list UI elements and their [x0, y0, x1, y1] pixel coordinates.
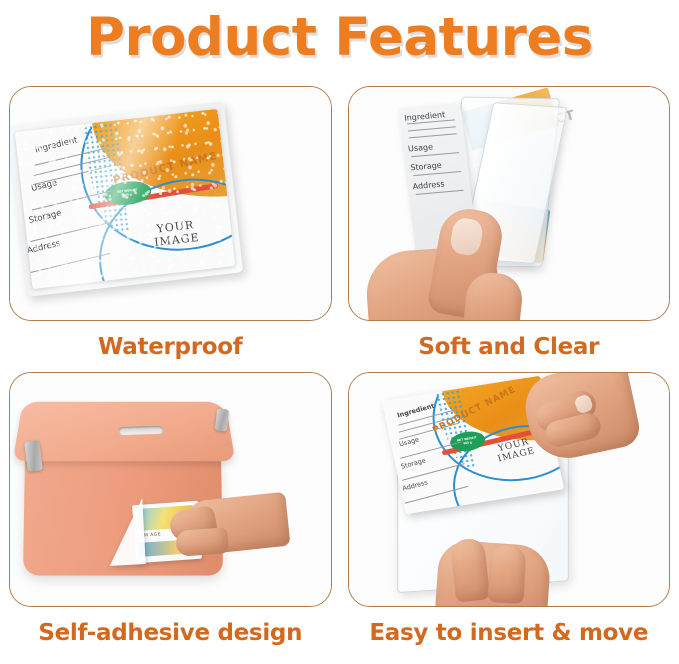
product-photo-easy-to-insert-and-move: PRODUCT NAME NET WEIGHT 650 g YOUR IMAGE… — [349, 373, 670, 606]
features-grid: PRODUCT NAME NET WEIGHT 650 g YOUR IMAGE… — [9, 86, 670, 658]
field-label-address: Address — [412, 178, 465, 191]
clear-sleeve: PRODUCT NAME NET WEIGHT 650 g YOUR IMAGE… — [10, 101, 243, 297]
hand-lower-finger-1 — [449, 537, 489, 602]
lid-handle-slot — [119, 426, 164, 435]
storage-box-lid — [13, 402, 236, 461]
peel-backing-corner — [106, 498, 145, 566]
page-title: Product Features — [0, 4, 679, 72]
feature-image-frame-soft-and-clear: PRODUCT Ingredient Usage Storage Address — [348, 86, 671, 321]
field-label-usage: Usage — [407, 140, 460, 153]
field-rule-5 — [413, 171, 461, 176]
feature-caption-soft-and-clear: Soft and Clear — [348, 321, 671, 372]
field-label-storage: Storage — [28, 209, 63, 226]
feature-caption-easy-to-insert-and-move: Easy to insert & move — [348, 607, 671, 658]
field-rule-5 — [30, 222, 111, 242]
field-rule-4 — [32, 190, 111, 210]
feature-item-soft-and-clear: PRODUCT Ingredient Usage Storage Address — [348, 86, 671, 372]
label-card-artwork: PRODUCT NAME NET WEIGHT 650 g YOUR IMAGE… — [15, 109, 236, 289]
feature-item-waterproof: PRODUCT NAME NET WEIGHT 650 g YOUR IMAGE… — [9, 86, 332, 372]
product-photo-waterproof: PRODUCT NAME NET WEIGHT 650 g YOUR IMAGE… — [10, 87, 331, 320]
field-rule-2 — [34, 156, 111, 175]
field-label-storage: Storage — [399, 457, 426, 471]
feature-image-frame-self-adhesive-design: IM AGE — [9, 372, 332, 607]
field-rule-3 — [408, 133, 456, 138]
feature-caption-self-adhesive-design: Self-adhesive design — [9, 607, 332, 658]
feature-item-easy-to-insert-and-move: PRODUCT NAME NET WEIGHT 650 g YOUR IMAGE… — [348, 372, 671, 658]
field-label-address: Address — [401, 478, 428, 492]
product-photo-soft-and-clear: PRODUCT Ingredient Usage Storage Address — [349, 87, 670, 320]
product-photo-self-adhesive-design: IM AGE — [10, 373, 331, 606]
field-rule-4 — [411, 152, 459, 157]
feature-item-self-adhesive-design: IM AGE Self-adhesive design — [9, 372, 332, 658]
field-rule-6 — [415, 190, 463, 195]
label-fields-group: Ingredient Usage Storage Address — [24, 133, 133, 279]
thumb-nail — [448, 216, 484, 257]
field-rule-2 — [407, 126, 455, 131]
feature-image-frame-waterproof: PRODUCT NAME NET WEIGHT 650 g YOUR IMAGE… — [9, 86, 332, 321]
field-label-usage: Usage — [30, 178, 58, 194]
fingernail — [573, 393, 594, 414]
feature-image-frame-easy-to-insert-and-move: PRODUCT NAME NET WEIGHT 650 g YOUR IMAGE… — [348, 372, 671, 607]
field-rule-6 — [28, 253, 110, 274]
hand-lower-finger-2 — [487, 544, 526, 604]
hand-finger-middle — [175, 527, 229, 557]
field-label-ingredient: Ingredient — [33, 135, 78, 155]
feature-caption-waterproof: Waterproof — [9, 321, 332, 372]
label-small-text: IM AGE — [142, 532, 161, 538]
field-label-storage: Storage — [409, 159, 462, 172]
box-latch-right — [215, 408, 229, 431]
